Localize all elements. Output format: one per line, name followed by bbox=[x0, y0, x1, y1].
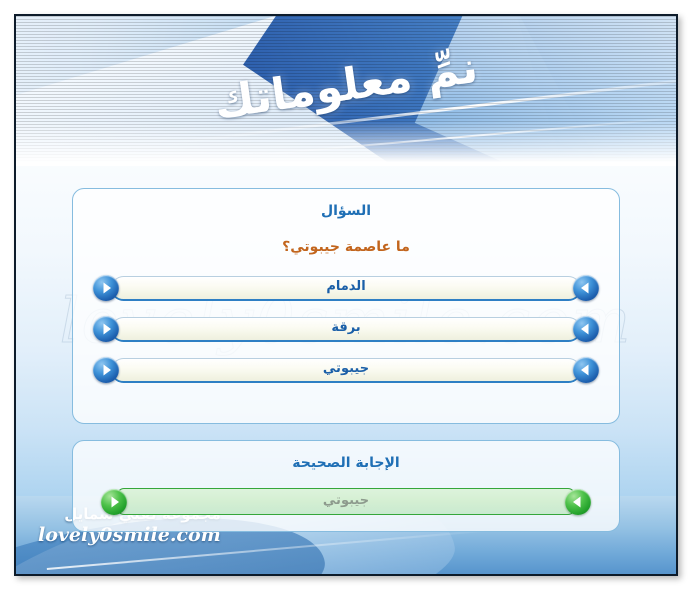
play-circle-right-icon[interactable] bbox=[101, 489, 127, 515]
answer-option-label: جيبوتي bbox=[93, 361, 599, 376]
page-background: نمِّ معلوماتك lovely0smile.com السؤال ما… bbox=[16, 16, 676, 574]
answer-option-row[interactable]: جيبوتي bbox=[93, 357, 599, 385]
play-circle-left-icon[interactable] bbox=[573, 275, 599, 301]
question-panel-title: السؤال bbox=[73, 203, 619, 219]
answer-options-list: الدمام برقة bbox=[73, 275, 619, 385]
play-circle-left-icon[interactable] bbox=[573, 357, 599, 383]
play-circle-right-icon[interactable] bbox=[93, 316, 119, 342]
answer-option-row[interactable]: برقة bbox=[93, 316, 599, 344]
answer-option-row[interactable]: الدمام bbox=[93, 275, 599, 303]
answer-option-label: الدمام bbox=[93, 279, 599, 294]
correct-answer-row: جيبوتي bbox=[101, 487, 591, 517]
question-text: ما عاصمة جيبوتي؟ bbox=[73, 239, 619, 255]
answer-option-label: برقة bbox=[93, 320, 599, 335]
correct-answer-text: جيبوتي bbox=[101, 493, 591, 508]
play-circle-right-icon[interactable] bbox=[93, 357, 119, 383]
correct-answer-panel: الإجابة الصحيحة جيبوتي bbox=[72, 440, 620, 532]
play-circle-left-icon[interactable] bbox=[573, 316, 599, 342]
play-circle-right-icon[interactable] bbox=[93, 275, 119, 301]
play-circle-left-icon[interactable] bbox=[565, 489, 591, 515]
page-frame: نمِّ معلوماتك lovely0smile.com السؤال ما… bbox=[14, 14, 678, 576]
correct-answer-title: الإجابة الصحيحة bbox=[73, 455, 619, 471]
question-panel: السؤال ما عاصمة جيبوتي؟ bbox=[72, 188, 620, 424]
